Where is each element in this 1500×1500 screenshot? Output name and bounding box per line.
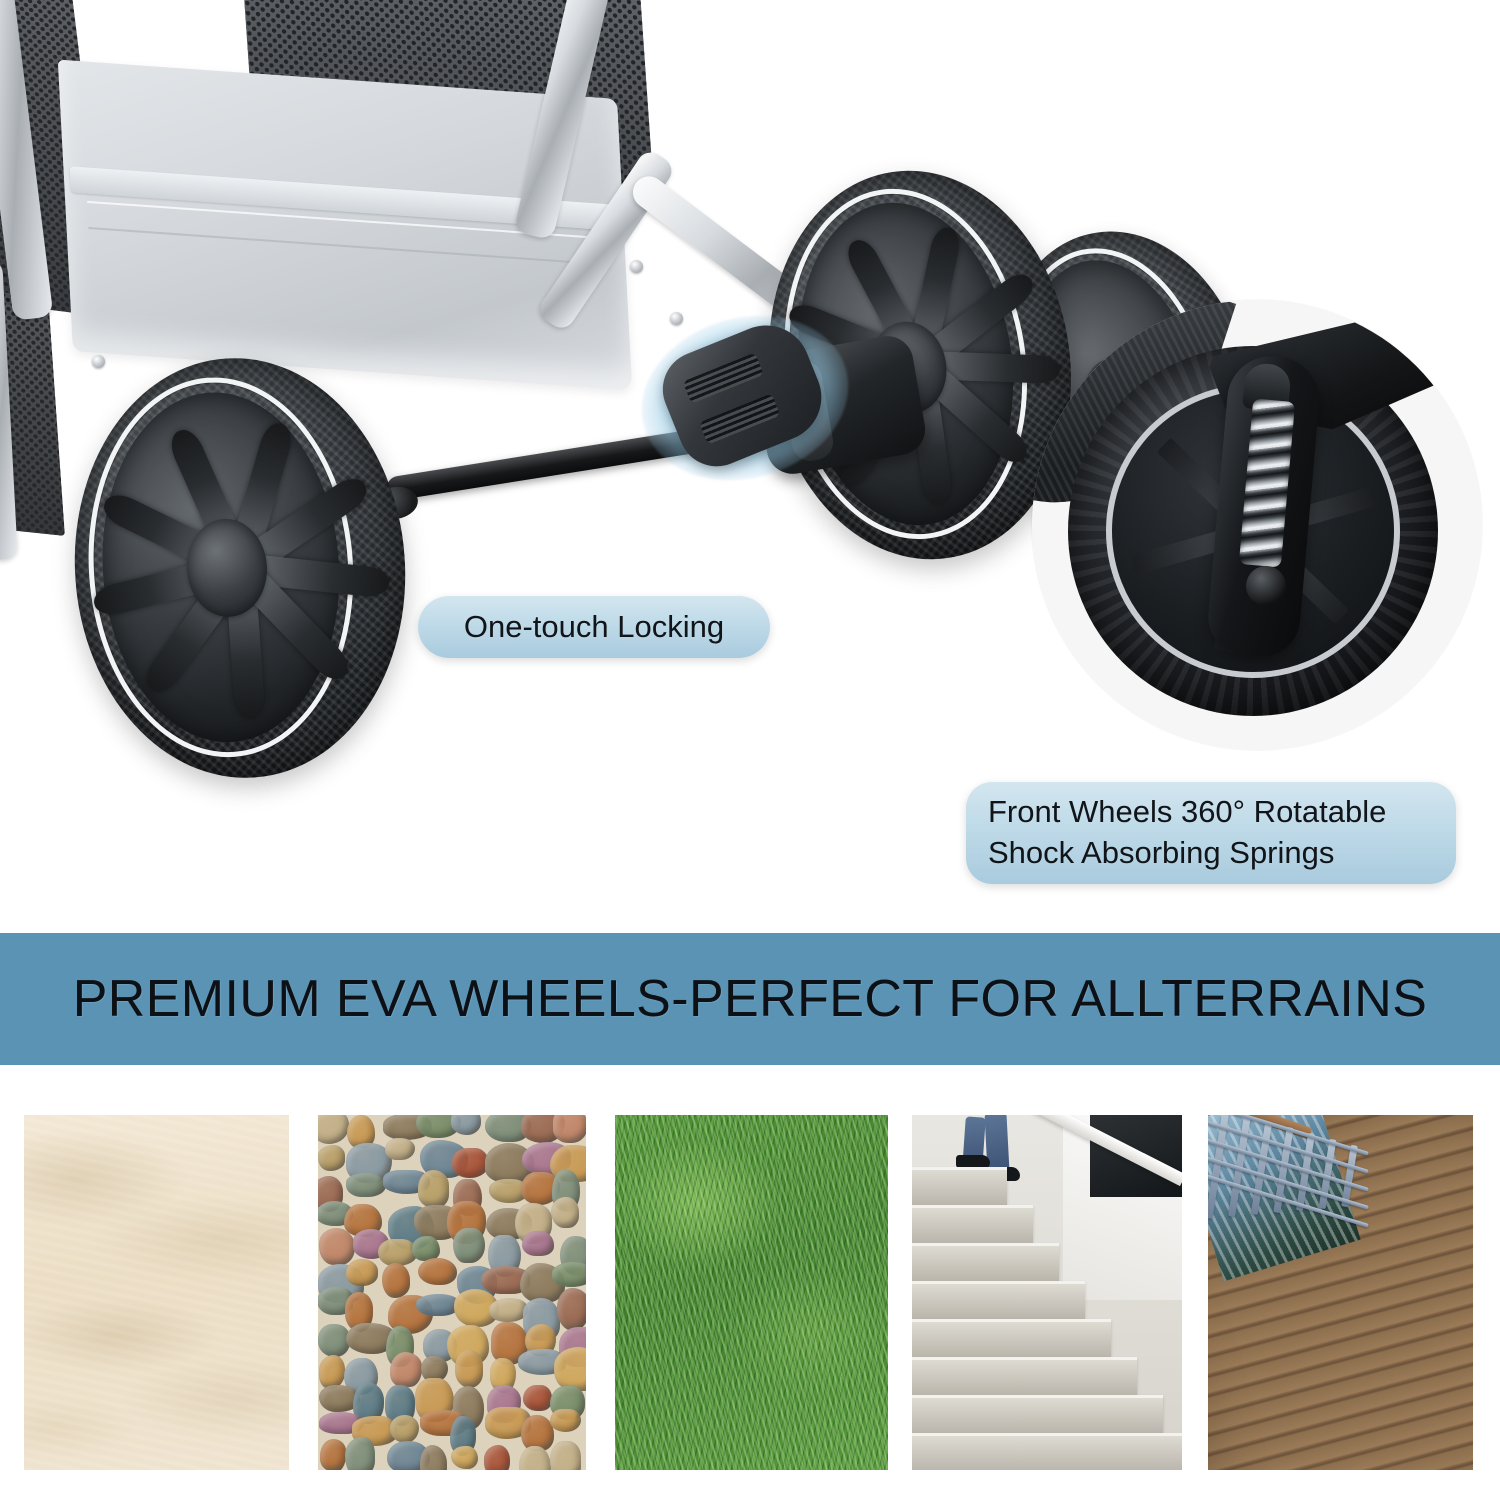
pebble (522, 1231, 553, 1257)
stairs-texture (912, 1115, 1182, 1470)
sand-texture (24, 1115, 289, 1470)
pebble (451, 1446, 477, 1469)
stair-step (912, 1433, 1182, 1470)
pebble (455, 1350, 483, 1388)
lever-grip-ridges (699, 393, 780, 444)
product-feature-image: One-touch Locking Front Wheels 360° Rota… (0, 0, 1500, 1500)
terrain-tile-sand (24, 1115, 289, 1470)
pebble (550, 1441, 582, 1470)
pebble (553, 1115, 586, 1143)
pebble (318, 1145, 345, 1170)
terrain-tile-grass (615, 1115, 888, 1470)
frame-rivet (630, 260, 643, 273)
terrain-tile-wood-deck (1208, 1115, 1473, 1470)
pebble (557, 1288, 586, 1331)
pebble-texture (318, 1115, 586, 1470)
stair-step (912, 1395, 1163, 1433)
grass-texture (615, 1115, 888, 1470)
pebble (378, 1239, 416, 1266)
pebble (390, 1352, 422, 1387)
stair-step (912, 1243, 1059, 1281)
pebble (452, 1148, 489, 1178)
pebble (420, 1445, 446, 1470)
stair-step (912, 1281, 1085, 1319)
pebble (484, 1445, 510, 1470)
pebble (390, 1415, 419, 1443)
pebble (320, 1439, 347, 1470)
callout-one-touch-locking: One-touch Locking (418, 596, 770, 658)
pebble (345, 1437, 375, 1470)
pebble (554, 1347, 586, 1391)
pebble (550, 1409, 580, 1432)
pebble (418, 1258, 457, 1285)
lever-grip-ridges (683, 352, 764, 403)
stair-step (912, 1205, 1033, 1243)
front-wheel-inset-circle (1032, 300, 1482, 750)
banner-title: PREMIUM EVA WHEELS-PERFECT FOR ALLTERRAI… (73, 969, 1428, 1029)
callout-front-wheels: Front Wheels 360° Rotatable Shock Absorb… (966, 782, 1456, 884)
pebble (318, 1115, 349, 1144)
feature-banner: PREMIUM EVA WHEELS-PERFECT FOR ALLTERRAI… (0, 933, 1500, 1065)
stroller-wheel-photo: One-touch Locking Front Wheels 360° Rota… (0, 0, 1500, 933)
pebble (385, 1138, 415, 1160)
wood-deck-texture (1208, 1115, 1473, 1470)
pebble (318, 1324, 350, 1358)
pebble (319, 1228, 355, 1265)
frame-rivet (670, 312, 683, 325)
pebble (453, 1228, 484, 1262)
terrain-tile-stairs (912, 1115, 1182, 1470)
callout-front-wheels-line1: Front Wheels 360° Rotatable (988, 792, 1434, 833)
frame-rivet (92, 355, 105, 368)
pebble (418, 1170, 450, 1208)
pebble (382, 1263, 410, 1298)
pebble (346, 1259, 378, 1286)
callout-front-wheels-line2: Shock Absorbing Springs (988, 833, 1434, 874)
pebble (551, 1197, 579, 1228)
pebble (346, 1173, 386, 1197)
terrain-gallery (0, 1065, 1500, 1500)
stair-step (912, 1167, 1007, 1205)
stair-step (912, 1319, 1111, 1357)
terrain-tile-pebble (318, 1115, 586, 1470)
pebble (451, 1115, 480, 1135)
stair-step (912, 1357, 1137, 1395)
pebble (552, 1262, 586, 1287)
pebble (523, 1385, 552, 1412)
